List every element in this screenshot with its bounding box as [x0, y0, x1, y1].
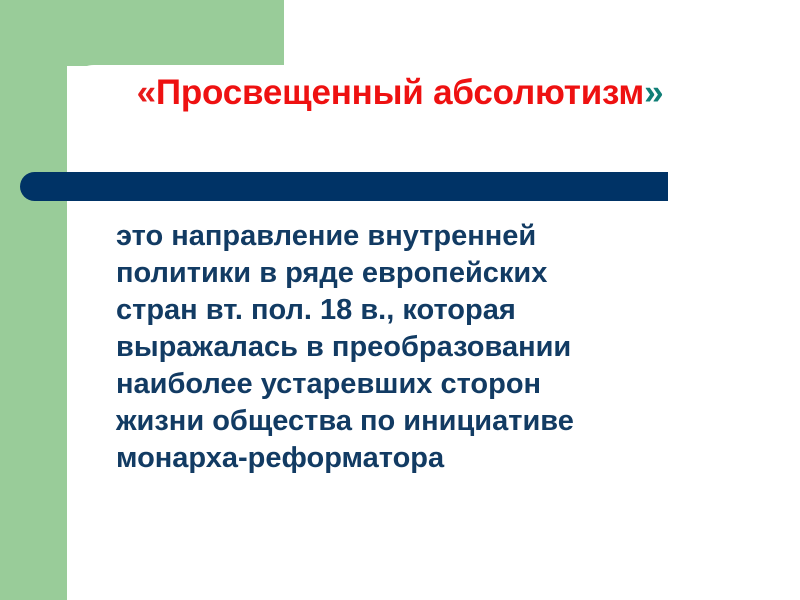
- title-quote-close: »: [644, 73, 663, 112]
- body-line: жизни общества по инициативе: [112, 403, 692, 440]
- slide-body-text: это направление внутренней политики в ря…: [112, 218, 692, 477]
- presentation-slide: «Просвещенный абсолютизм» это направлени…: [0, 0, 800, 600]
- body-line: наиболее устаревших сторон: [112, 366, 692, 403]
- title-text: Просвещенный абсолютизм: [156, 73, 644, 112]
- body-line: монарха-реформатора: [112, 440, 692, 477]
- slide-title: «Просвещенный абсолютизм»: [0, 74, 800, 113]
- green-accent-band: [0, 0, 284, 66]
- body-line: политики в ряде европейских: [112, 255, 692, 292]
- body-line: выражалась в преобразовании: [112, 329, 692, 366]
- title-quote-open: «: [137, 73, 156, 112]
- title-divider-bar: [20, 172, 668, 201]
- body-line: стран вт. пол. 18 в., которая: [112, 292, 692, 329]
- body-line: это направление внутренней: [112, 218, 692, 255]
